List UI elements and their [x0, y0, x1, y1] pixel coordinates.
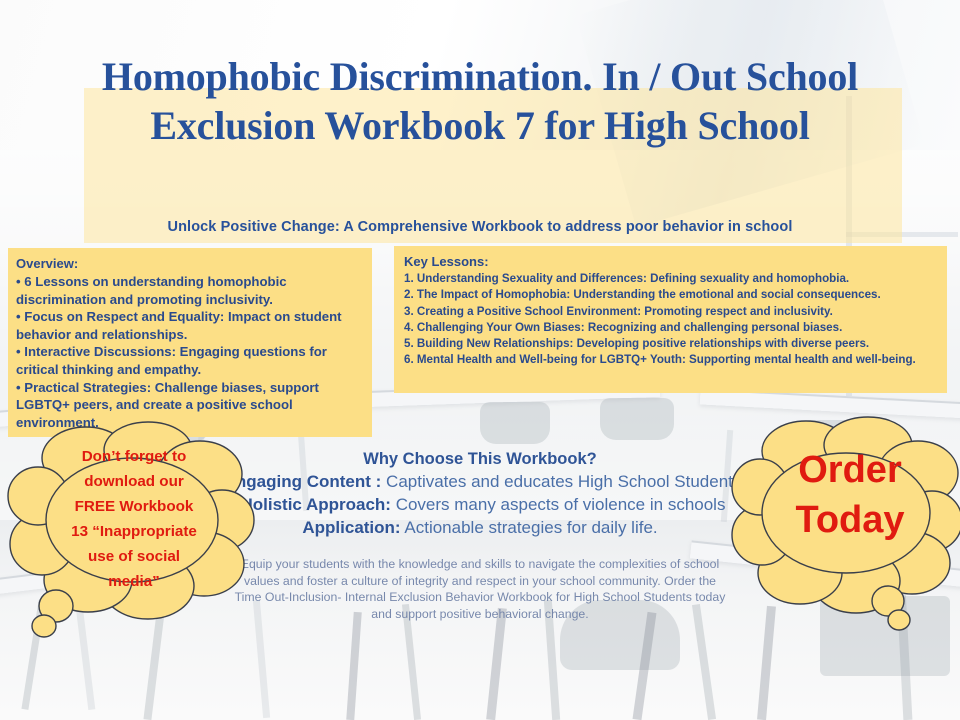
overview-panel: Overview: • 6 Lessons on understanding h… — [8, 248, 372, 437]
key-lesson-item: 3. Creating a Positive School Environmen… — [404, 304, 939, 320]
bubble-line: FREE Workbook — [46, 494, 222, 519]
why-choose-point: •Holistic Approach: Covers many aspects … — [175, 493, 785, 516]
overview-heading: Overview: — [16, 255, 362, 272]
why-choose-label: Application: — [302, 518, 400, 537]
key-lessons-list: 1. Understanding Sexuality and Differenc… — [404, 271, 939, 369]
bubble-line: download our — [46, 469, 222, 494]
bubble-line: Today — [760, 495, 940, 545]
free-workbook-bubble-text: Don’t forget to download our FREE Workbo… — [46, 444, 222, 594]
key-lessons-heading: Key Lessons: — [404, 253, 939, 270]
bubble-line: 13 “Inappropriate — [46, 519, 222, 544]
closing-paragraph: Equip your students with the knowledge a… — [230, 556, 730, 622]
page-title: Homophobic Discrimination. In / Out Scho… — [70, 52, 890, 150]
why-choose-text: Covers many aspects of violence in schoo… — [391, 495, 726, 514]
bubble-line: media” — [46, 569, 222, 594]
bubble-line: use of social — [46, 544, 222, 569]
why-choose-text: Actionable strategies for daily life. — [401, 518, 658, 537]
overview-item: • 6 Lessons on understanding homophobic … — [16, 273, 362, 308]
key-lesson-item: 6. Mental Health and Well-being for LGBT… — [404, 352, 939, 368]
order-today-thought-bubble[interactable]: Order Today — [736, 421, 960, 636]
order-today-bubble-text: Order Today — [760, 445, 940, 545]
why-choose-text: Captivates and educates High School Stud… — [381, 472, 741, 491]
key-lesson-item: 4. Challenging Your Own Biases: Recogniz… — [404, 320, 939, 336]
overview-list: • 6 Lessons on understanding homophobic … — [16, 273, 362, 431]
free-workbook-thought-bubble[interactable]: Don’t forget to download our FREE Workbo… — [8, 424, 256, 639]
overview-item: • Interactive Discussions: Engaging ques… — [16, 343, 362, 378]
key-lessons-panel: Key Lessons: 1. Understanding Sexuality … — [394, 246, 947, 393]
chair-silhouette — [600, 398, 674, 440]
bubble-line: Don’t forget to — [46, 444, 222, 469]
key-lesson-item: 2. The Impact of Homophobia: Understandi… — [404, 287, 939, 303]
why-choose-point: Application: Actionable strategies for d… — [175, 516, 785, 539]
why-choose-block: Why Choose This Workbook? •Engaging Cont… — [175, 448, 785, 539]
bubble-line: Order — [760, 445, 940, 495]
overview-item: • Focus on Respect and Equality: Impact … — [16, 308, 362, 343]
promo-slide: Homophobic Discrimination. In / Out Scho… — [0, 0, 960, 720]
chair-silhouette — [480, 402, 550, 444]
key-lesson-item: 5. Building New Relationships: Developin… — [404, 336, 939, 352]
why-choose-heading: Why Choose This Workbook? — [175, 448, 785, 470]
subtitle: Unlock Positive Change: A Comprehensive … — [0, 219, 960, 235]
why-choose-point: •Engaging Content : Captivates and educa… — [175, 470, 785, 493]
key-lesson-item: 1. Understanding Sexuality and Differenc… — [404, 271, 939, 287]
why-choose-label: Holistic Approach: — [240, 495, 391, 514]
